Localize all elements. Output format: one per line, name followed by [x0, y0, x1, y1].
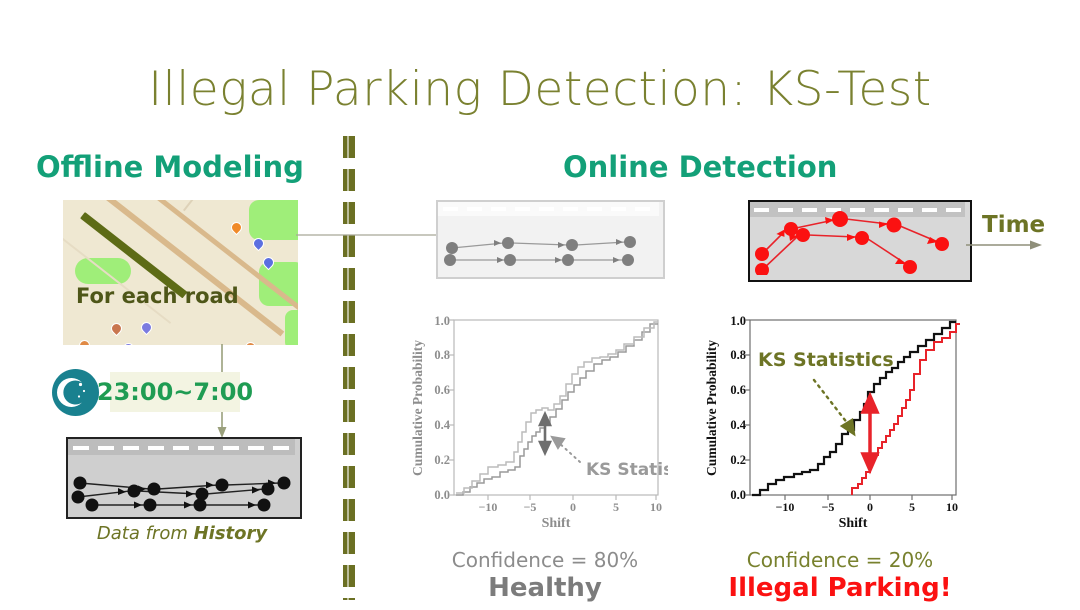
online-road-diagram-normal: [436, 200, 665, 279]
svg-text:0.2: 0.2: [730, 453, 746, 467]
chart-healthy-ylabel: Cumulative Probability: [410, 340, 425, 476]
road-map-thumbnail: For each road: [63, 200, 298, 345]
chart-healthy-xlabel: Shift: [542, 516, 571, 531]
svg-text:0.4: 0.4: [730, 418, 746, 432]
svg-text:−10: −10: [776, 500, 795, 514]
cdf-chart-healthy: 0.00.2 0.40.6 0.81.0 −10−5 0510 Shift Cu…: [408, 312, 668, 537]
svg-text:0.8: 0.8: [434, 348, 450, 362]
svg-text:0.2: 0.2: [434, 453, 450, 467]
svg-text:5: 5: [613, 500, 619, 514]
confidence-illegal: Confidence = 20%: [720, 548, 960, 572]
verdict-healthy: Healthy: [430, 573, 660, 603]
time-axis-arrow: [966, 238, 1044, 252]
night-moon-icon: [52, 369, 99, 416]
history-caption-strong: History: [194, 523, 268, 544]
time-axis-label: Time: [982, 212, 1045, 238]
map-pin-icon: [229, 220, 245, 236]
svg-text:0.6: 0.6: [730, 383, 746, 397]
time-window-badge: 23:00~7:00: [110, 372, 240, 412]
chart-illegal-xlabel: Shift: [839, 516, 868, 531]
svg-text:0.4: 0.4: [434, 418, 450, 432]
svg-text:0.0: 0.0: [434, 488, 450, 502]
section-heading-offline: Offline Modeling: [36, 150, 304, 184]
svg-text:1.0: 1.0: [434, 314, 450, 328]
dashed-divider: [343, 136, 355, 600]
map-caption: For each road: [76, 284, 239, 308]
chart-healthy-annotation: KS Statistics: [586, 460, 668, 480]
svg-text:0.6: 0.6: [434, 383, 450, 397]
history-caption-prefix: Data from: [97, 523, 194, 544]
chart-illegal-annotation: KS Statistics: [758, 349, 894, 371]
time-window-value: 23:00~7:00: [110, 372, 240, 412]
chart-illegal-ylabel: Cumulative Probability: [704, 340, 719, 476]
map-pin-icon: [77, 338, 93, 345]
svg-text:10: 10: [650, 500, 662, 514]
svg-text:0: 0: [867, 500, 873, 514]
svg-text:1.0: 1.0: [730, 314, 746, 328]
svg-text:−5: −5: [822, 500, 835, 514]
cdf-chart-illegal: 0.00.2 0.40.6 0.81.0 −10−5 0510 Shift Cu…: [700, 312, 965, 537]
page-title: Illegal Parking Detection: KS-Test: [0, 62, 1080, 117]
confidence-healthy: Confidence = 80%: [430, 548, 660, 572]
history-road-diagram: [66, 437, 302, 519]
connector-map-to-online: [296, 228, 446, 242]
svg-text:0.0: 0.0: [730, 488, 746, 502]
online-road-diagram-illegal: [748, 200, 972, 282]
svg-text:0.8: 0.8: [730, 348, 746, 362]
history-road-caption: Data from History: [66, 523, 298, 544]
section-heading-online: Online Detection: [563, 150, 837, 184]
svg-text:5: 5: [909, 500, 915, 514]
svg-text:−10: −10: [479, 500, 498, 514]
map-pin-icon: [243, 340, 259, 345]
verdict-illegal: Illegal Parking!: [720, 573, 960, 603]
svg-text:−5: −5: [524, 500, 537, 514]
svg-text:0: 0: [570, 500, 576, 514]
map-pin-icon: [139, 320, 155, 336]
map-pin-icon: [121, 341, 137, 345]
svg-text:10: 10: [946, 500, 958, 514]
map-pin-icon: [109, 321, 125, 337]
